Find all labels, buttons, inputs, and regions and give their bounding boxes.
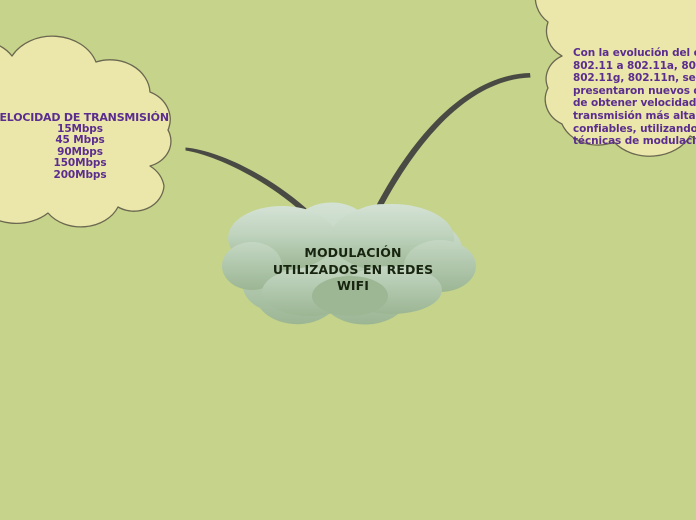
evolucion-line-8: técnicas de modulación xyxy=(573,135,696,148)
evolucion-line-6: transmisión más altas y xyxy=(573,110,696,123)
evolucion-line-3: 802.11g, 802.11n, se xyxy=(573,72,696,85)
central-topic-line-3: WIFI xyxy=(253,278,453,295)
evolucion-line-7: confiables, utilizando nu xyxy=(573,123,696,136)
evolucion-line-5: de obtener velocidades xyxy=(573,97,696,110)
central-topic-label: MODULACIÓN UTILIZADOS EN REDES WIFI xyxy=(253,245,453,295)
central-topic-line-2: UTILIZADOS EN REDES xyxy=(253,262,453,279)
evolucion-line-1: Con la evolución del esta xyxy=(573,47,696,60)
evolucion-line-2: 802.11 a 802.11a, 802.1 xyxy=(573,60,696,73)
branch-label-velocidad: VELOCIDAD DE TRANSMISIÓN 15Mbps 45 Mbps … xyxy=(0,112,170,182)
branch-label-evolucion: Con la evolución del esta 802.11 a 802.1… xyxy=(573,47,696,148)
velocidad-value-5: 200Mbps xyxy=(0,170,170,182)
branch-heading-velocidad: VELOCIDAD DE TRANSMISIÓN xyxy=(0,112,170,124)
central-topic-line-1: MODULACIÓN xyxy=(253,245,453,262)
evolucion-line-4: presentaron nuevos obje xyxy=(573,85,696,98)
mindmap-canvas: VELOCIDAD DE TRANSMISIÓN 15Mbps 45 Mbps … xyxy=(0,0,696,520)
